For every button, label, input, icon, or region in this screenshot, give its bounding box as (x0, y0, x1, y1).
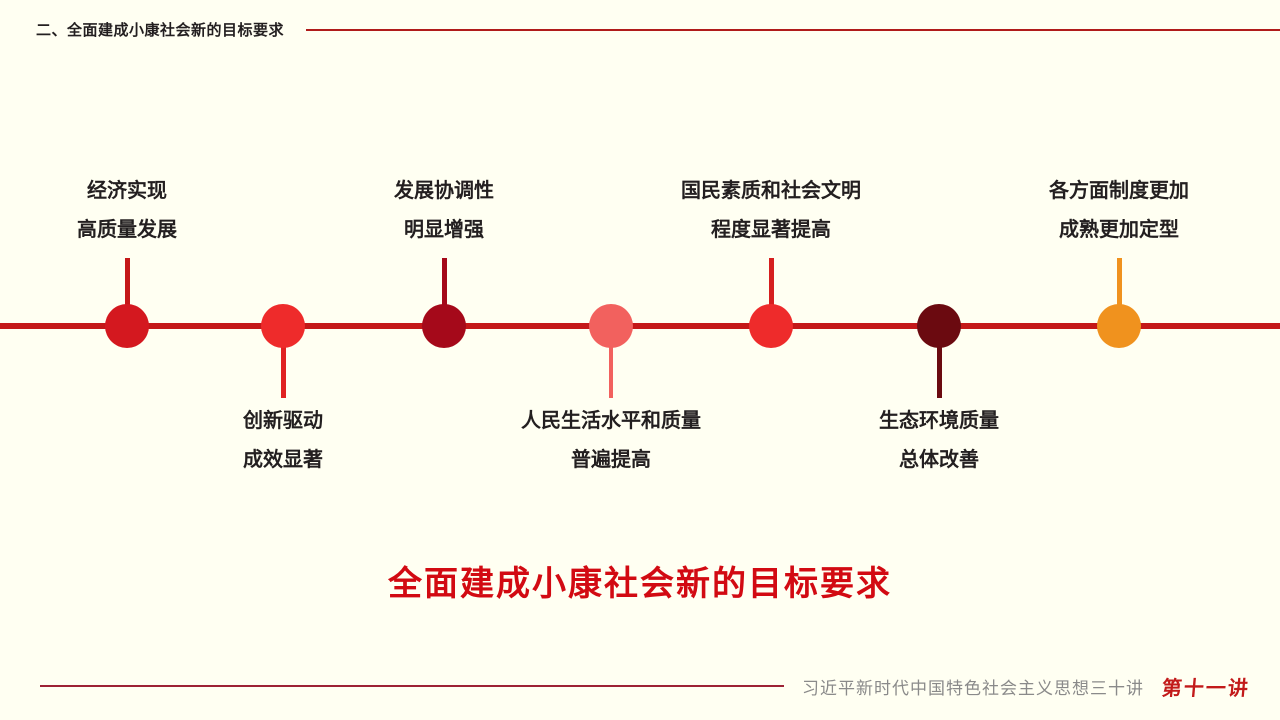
timeline-node-label-6: 生态环境质量总体改善 (769, 402, 1109, 480)
timeline-node-dot-3[interactable] (422, 304, 466, 348)
timeline-node-label-line: 国民素质和社会文明 (601, 172, 941, 211)
page-title: 二、全面建成小康社会新的目标要求 (36, 19, 284, 40)
timeline-node-label-line: 发展协调性 (274, 172, 614, 211)
timeline-node-label-line: 经济实现 (0, 172, 297, 211)
timeline-node-label-line: 成熟更加定型 (949, 211, 1280, 250)
timeline-node-label-7: 各方面制度更加成熟更加定型 (949, 172, 1280, 250)
headline-title: 全面建成小康社会新的目标要求 (0, 556, 1280, 605)
slide-footer: 习近平新时代中国特色社会主义思想三十讲 第十一讲 (0, 666, 1280, 706)
timeline-node-dot-2[interactable] (261, 304, 305, 348)
timeline-node-label-4: 人民生活水平和质量普遍提高 (441, 402, 781, 480)
timeline-node-label-line: 普遍提高 (441, 441, 781, 480)
footer-series-label: 习近平新时代中国特色社会主义思想三十讲 (802, 674, 1144, 699)
timeline-node-label-line: 各方面制度更加 (949, 172, 1280, 211)
timeline-node-dot-6[interactable] (917, 304, 961, 348)
timeline-node-dot-1[interactable] (105, 304, 149, 348)
timeline-node-label-1: 经济实现高质量发展 (0, 172, 297, 250)
timeline-node-label-5: 国民素质和社会文明程度显著提高 (601, 172, 941, 250)
header-divider (306, 29, 1280, 31)
timeline-node-label-line: 明显增强 (274, 211, 614, 250)
slide-header: 二、全面建成小康社会新的目标要求 (0, 12, 1280, 46)
timeline-node-dot-4[interactable] (589, 304, 633, 348)
footer-divider (40, 685, 784, 687)
timeline: 经济实现高质量发展创新驱动成效显著发展协调性明显增强人民生活水平和质量普遍提高国… (0, 0, 1280, 720)
timeline-node-label-line: 程度显著提高 (601, 211, 941, 250)
timeline-node-label-line: 高质量发展 (0, 211, 297, 250)
timeline-node-label-3: 发展协调性明显增强 (274, 172, 614, 250)
timeline-node-label-line: 成效显著 (113, 441, 453, 480)
timeline-axis (0, 323, 1280, 329)
timeline-node-dot-5[interactable] (749, 304, 793, 348)
timeline-node-dot-7[interactable] (1097, 304, 1141, 348)
footer-lecture-label: 第十一讲 (1161, 672, 1252, 701)
timeline-node-label-2: 创新驱动成效显著 (113, 402, 453, 480)
timeline-node-label-line: 生态环境质量 (769, 402, 1109, 441)
timeline-node-label-line: 总体改善 (769, 441, 1109, 480)
timeline-node-label-line: 人民生活水平和质量 (441, 402, 781, 441)
timeline-node-label-line: 创新驱动 (113, 402, 453, 441)
